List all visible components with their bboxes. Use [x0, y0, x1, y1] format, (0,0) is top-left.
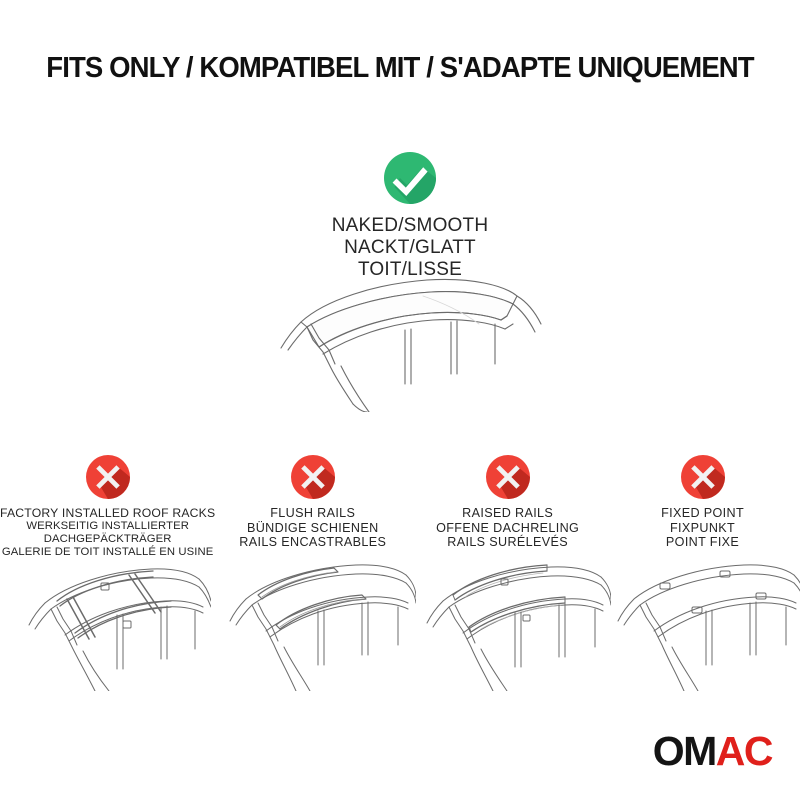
car-roof-with-flush-rails-illustration [210, 551, 416, 691]
omac-logo: OMAC [653, 731, 772, 772]
rejected-4-label-fr: POINT FIXE [605, 535, 800, 550]
approved-roof-type: NAKED/SMOOTH NACKT/GLATT TOIT/LISSE [230, 152, 590, 282]
rejected-3-label-en: RAISED RAILS [410, 506, 605, 521]
rejected-4-label-en: FIXED POINT [605, 506, 800, 521]
x-circle-icon [681, 455, 725, 499]
rejected-roof-type-fixed-point: FIXED POINT FIXPUNKT POINT FIXE [605, 455, 800, 705]
x-circle-icon [486, 455, 530, 499]
rejected-3-label-fr: RAILS SURÉLEVÉS [410, 535, 605, 550]
rejected-roof-type-flush-rails: FLUSH RAILS BÜNDIGE SCHIENEN RAILS ENCAS… [215, 455, 410, 705]
rejected-1-label-en: FACTORY INSTALLED ROOF RACKS [0, 506, 215, 520]
approved-label-en: NAKED/SMOOTH [230, 215, 590, 237]
logo-part-red: AC [716, 728, 772, 774]
bare-smooth-car-roof-illustration [255, 272, 565, 412]
rejected-roof-types: FACTORY INSTALLED ROOF RACKS WERKSEITIG … [0, 455, 800, 705]
rejected-labels-2: FLUSH RAILS BÜNDIGE SCHIENEN RAILS ENCAS… [215, 506, 410, 550]
rejected-labels-3: RAISED RAILS OFFENE DACHRELING RAILS SUR… [410, 506, 605, 550]
rejected-1-label-de-line1: WERKSEITIG INSTALLIERTER [0, 520, 215, 533]
car-roof-with-fixed-points-illustration [600, 551, 800, 691]
rejected-2-label-fr: RAILS ENCASTRABLES [215, 535, 410, 550]
rejected-1-label-de-line2: DACHGEPÄCKTRÄGER [0, 533, 215, 546]
x-circle-icon [291, 455, 335, 499]
rejected-roof-type-factory-racks: FACTORY INSTALLED ROOF RACKS WERKSEITIG … [0, 455, 215, 705]
rejected-roof-type-raised-rails: RAISED RAILS OFFENE DACHRELING RAILS SUR… [410, 455, 605, 705]
rejected-3-label-de: OFFENE DACHRELING [410, 521, 605, 536]
approved-label-de: NACKT/GLATT [230, 237, 590, 259]
rejected-labels-4: FIXED POINT FIXPUNKT POINT FIXE [605, 506, 800, 550]
car-roof-with-factory-crossbars-illustration [5, 551, 211, 691]
rejected-4-label-de: FIXPUNKT [605, 521, 800, 536]
page-title: FITS ONLY / KOMPATIBEL MIT / S'ADAPTE UN… [14, 52, 786, 85]
rejected-2-label-de: BÜNDIGE SCHIENEN [215, 521, 410, 536]
logo-part-dark: OM [653, 728, 716, 774]
car-roof-with-raised-rails-illustration [405, 551, 611, 691]
rejected-2-label-en: FLUSH RAILS [215, 506, 410, 521]
x-circle-icon [86, 455, 130, 499]
check-circle-icon [384, 152, 436, 204]
